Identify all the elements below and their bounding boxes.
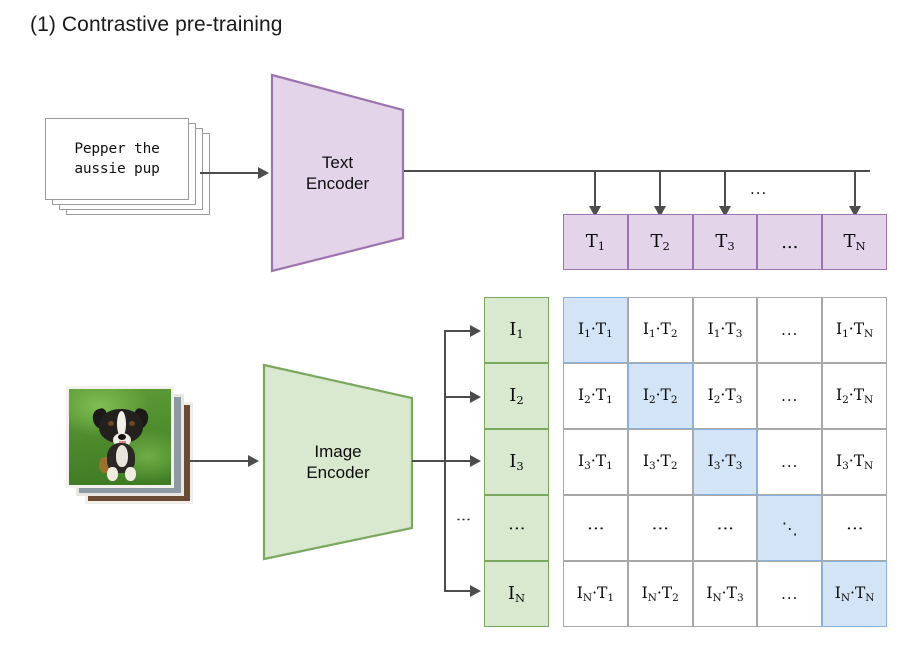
image-embedding-cell: ⋮ — [484, 495, 549, 561]
text-encoder-label-line1: Text — [306, 152, 369, 173]
text-bus-drop-3 — [724, 170, 726, 210]
dog-paw-left — [107, 467, 118, 481]
text-encoder-label-line2: Encoder — [306, 173, 369, 194]
similarity-matrix-cell: I3·T3 — [693, 429, 758, 495]
image-encoder-block[interactable]: Image Encoder — [262, 362, 414, 562]
similarity-matrix-cell: ... — [757, 561, 822, 627]
photo-card-front — [66, 386, 174, 488]
similarity-matrix-cell: ... — [757, 363, 822, 429]
similarity-matrix-cell: ⋮ — [822, 495, 887, 561]
similarity-matrix-cell: ... — [757, 297, 822, 363]
text-embedding-cell: T3 — [693, 214, 758, 270]
similarity-matrix-cell: ⋮ — [628, 495, 693, 561]
similarity-matrix-cell: IN·T1 — [563, 561, 628, 627]
similarity-matrix-cell: I1·TN — [822, 297, 887, 363]
similarity-matrix-cell: I1·T1 — [563, 297, 628, 363]
dog-eye-left — [108, 421, 114, 426]
page-title: (1) Contrastive pre-training — [30, 13, 283, 37]
text-embedding-cell: T2 — [628, 214, 693, 270]
similarity-matrix-cell: IN·T2 — [628, 561, 693, 627]
image-embedding-cell: I1 — [484, 297, 549, 363]
image-embedding-cell: I3 — [484, 429, 549, 495]
similarity-matrix-cell: I2·T1 — [563, 363, 628, 429]
text-bus-drop-1 — [594, 170, 596, 210]
text-encoder-label: Text Encoder — [306, 152, 369, 194]
caption-text: Pepper the aussie pup — [45, 118, 189, 200]
dog-chest-bib — [116, 445, 128, 467]
text-input-arrowhead — [258, 167, 269, 179]
image-bus-ellipsis: ⋮ — [455, 512, 473, 528]
text-embedding-cell: TN — [822, 214, 887, 270]
similarity-matrix-cell: ⋮ — [693, 495, 758, 561]
image-embedding-cell: I2 — [484, 363, 549, 429]
text-embedding-cell: T1 — [563, 214, 628, 270]
bus-ellipsis: ... — [750, 180, 767, 198]
similarity-matrix-cell: I3·TN — [822, 429, 887, 495]
similarity-matrix-cell: I2·T2 — [628, 363, 693, 429]
image-input-arrowhead — [248, 455, 259, 467]
image-encoder-label: Image Encoder — [306, 441, 369, 483]
image-bus-arrow-3 — [470, 455, 481, 467]
image-embedding-cell: IN — [484, 561, 549, 627]
image-bus-arrow-1 — [470, 325, 481, 337]
image-bus-arrow-4 — [470, 585, 481, 597]
caption-line-2: aussie pup — [74, 159, 159, 179]
similarity-matrix-cell: I1·T2 — [628, 297, 693, 363]
dog-paw-right — [125, 467, 136, 481]
similarity-matrix-cell: I3·T1 — [563, 429, 628, 495]
caption-line-1: Pepper the — [74, 139, 159, 159]
image-embedding-bus-stem — [412, 460, 446, 462]
text-encoder-block[interactable]: Text Encoder — [270, 72, 405, 274]
image-encoder-label-line2: Encoder — [306, 462, 369, 483]
image-encoder-label-line1: Image — [306, 441, 369, 462]
image-bus-arrow-2 — [470, 391, 481, 403]
similarity-matrix-cell: ⋱ — [757, 495, 822, 561]
similarity-matrix-cell: I1·T3 — [693, 297, 758, 363]
similarity-matrix-cell: I3·T2 — [628, 429, 693, 495]
similarity-matrix-cell: I2·T3 — [693, 363, 758, 429]
similarity-matrix-cell: ... — [757, 429, 822, 495]
similarity-matrix-cell: IN·TN — [822, 561, 887, 627]
dog-eye-right — [129, 421, 135, 426]
similarity-matrix-cell: IN·T3 — [693, 561, 758, 627]
image-input-connector-line — [190, 460, 252, 462]
text-input-connector-line — [200, 172, 262, 174]
text-embedding-cell: ... — [757, 214, 822, 270]
text-bus-drop-2 — [659, 170, 661, 210]
similarity-matrix-cell: I2·TN — [822, 363, 887, 429]
text-bus-drop-4 — [854, 170, 856, 210]
similarity-matrix-cell: ⋮ — [563, 495, 628, 561]
text-embedding-bus-line — [404, 170, 870, 172]
dog-nose — [118, 434, 126, 440]
